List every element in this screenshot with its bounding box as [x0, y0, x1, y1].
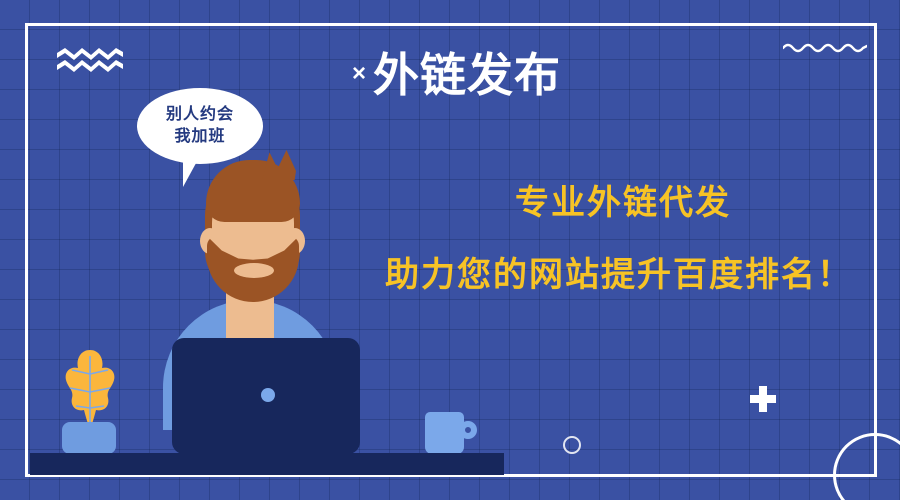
- potted-plant-icon: [62, 348, 118, 430]
- person-mouth: [234, 263, 274, 278]
- wave-lines-icon: [57, 48, 123, 72]
- wave-line-icon: [783, 40, 867, 54]
- title-prefix-symbol: ×: [352, 60, 367, 87]
- plant-pot: [62, 422, 116, 454]
- speech-bubble-line-1: 别人约会: [166, 104, 234, 126]
- coffee-mug-icon: [425, 412, 464, 454]
- banner-canvas: ×外链发布 专业外链代发 助力您的网站提升百度排名！ 别人约会 我加班: [0, 0, 900, 500]
- person-hair-tuft: [262, 150, 296, 180]
- title-text: 外链发布: [373, 49, 561, 101]
- page-title: ×外链发布: [352, 52, 561, 98]
- speech-bubble-line-2: 我加班: [174, 126, 225, 148]
- slogan-secondary: 助力您的网站提升百度排名！: [385, 258, 853, 292]
- slogan-primary: 专业外链代发: [515, 186, 731, 220]
- laptop-logo-dot: [261, 388, 275, 402]
- circle-outline-icon: [563, 436, 581, 454]
- plus-icon: [750, 386, 776, 412]
- desk-surface: [30, 453, 504, 475]
